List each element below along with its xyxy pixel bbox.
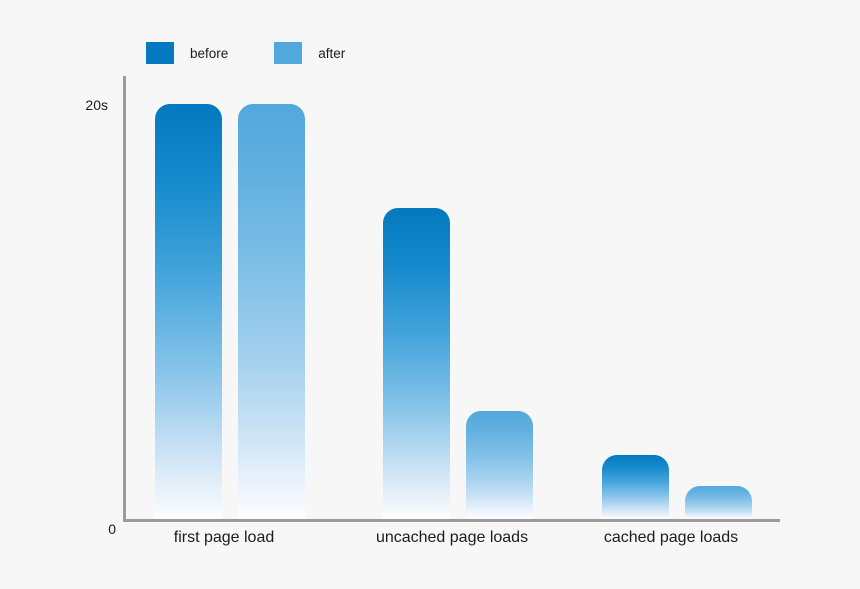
legend-swatch-after	[274, 42, 302, 64]
bar-uncached-page-loads-after[interactable]	[466, 411, 533, 519]
bar-cached-page-loads-after[interactable]	[685, 486, 752, 519]
legend-swatch-before	[146, 42, 174, 64]
chart-legend: before after	[146, 42, 345, 64]
bar-chart: before after 20s 0 first page load uncac…	[0, 0, 860, 589]
bar-cached-page-loads-before[interactable]	[602, 455, 669, 519]
category-label-uncached-page-loads: uncached page loads	[376, 529, 528, 547]
category-label-cached-page-loads: cached page loads	[604, 529, 738, 547]
bar-first-page-load-after[interactable]	[238, 104, 305, 519]
legend-item-after[interactable]: after	[274, 42, 345, 64]
legend-item-before[interactable]: before	[146, 42, 228, 64]
legend-label-after: after	[318, 46, 345, 61]
y-axis-tick-0: 0	[108, 521, 116, 537]
bar-first-page-load-before[interactable]	[155, 104, 222, 519]
plot-area	[123, 76, 780, 521]
legend-label-before: before	[190, 46, 228, 61]
category-label-first-page-load: first page load	[174, 529, 275, 547]
bar-uncached-page-loads-before[interactable]	[383, 208, 450, 519]
y-axis-tick-20s: 20s	[85, 97, 108, 113]
